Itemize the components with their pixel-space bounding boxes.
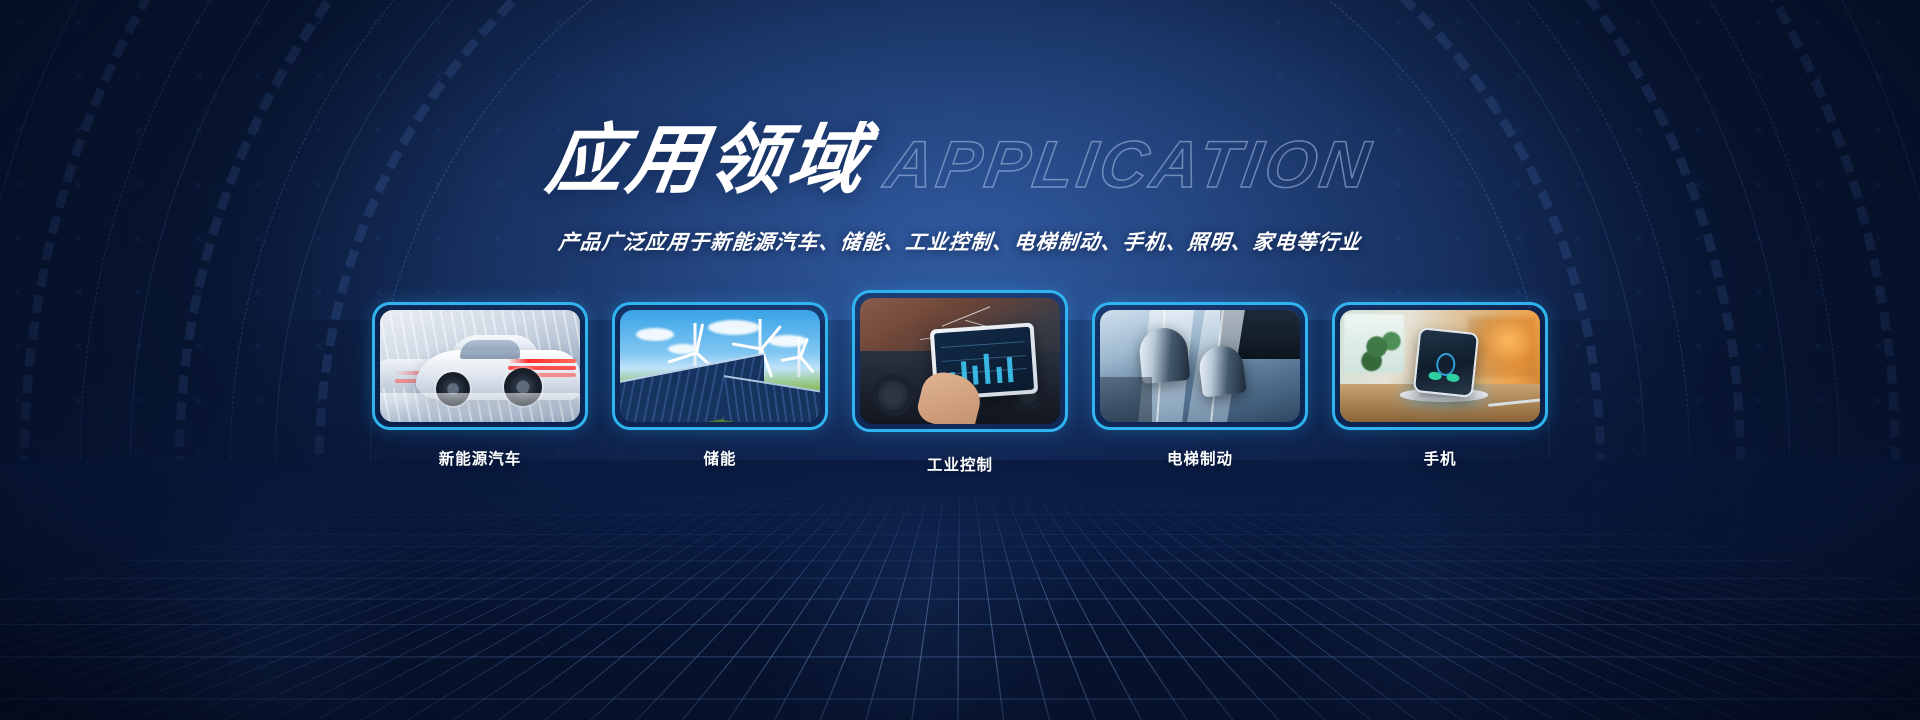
application-banner: 应用领域 APPLICATION 产品广泛应用于新能源汽车、储能、工业控制、电梯… [0, 0, 1920, 720]
ev-sports-car-photo [380, 310, 580, 422]
card-frame [1332, 302, 1548, 430]
card-frame [612, 302, 828, 430]
banner-subtitle: 产品广泛应用于新能源汽车、储能、工业控制、电梯制动、手机、照明、家电等行业 [0, 225, 1920, 255]
banner-heading: 应用领域 APPLICATION [0, 123, 1920, 199]
application-card[interactable]: 手机 [1332, 302, 1548, 469]
elevator-shaft-photo [1100, 310, 1300, 422]
card-frame [852, 290, 1068, 432]
application-card[interactable]: 电梯制动 [1092, 302, 1308, 469]
card-label: 储能 [703, 447, 736, 469]
card-frame [1092, 302, 1308, 430]
card-label: 工业控制 [927, 453, 993, 475]
card-label: 手机 [1423, 447, 1456, 469]
industrial-control-tablet-photo [860, 298, 1060, 424]
page-title: 应用领域 [542, 123, 874, 199]
application-card-list: 新能源汽车 [0, 302, 1920, 475]
smartphone-wireless-charger-photo [1340, 310, 1540, 422]
card-label: 电梯制动 [1167, 447, 1233, 469]
application-card[interactable]: 新能源汽车 [372, 302, 588, 469]
application-card[interactable]: 工业控制 [852, 290, 1068, 475]
card-label: 新能源汽车 [439, 447, 522, 469]
application-card[interactable]: 储能 [612, 302, 828, 469]
page-title-english: APPLICATION [880, 131, 1377, 199]
card-frame [372, 302, 588, 430]
solar-panels-wind-turbines-photo [620, 310, 820, 422]
